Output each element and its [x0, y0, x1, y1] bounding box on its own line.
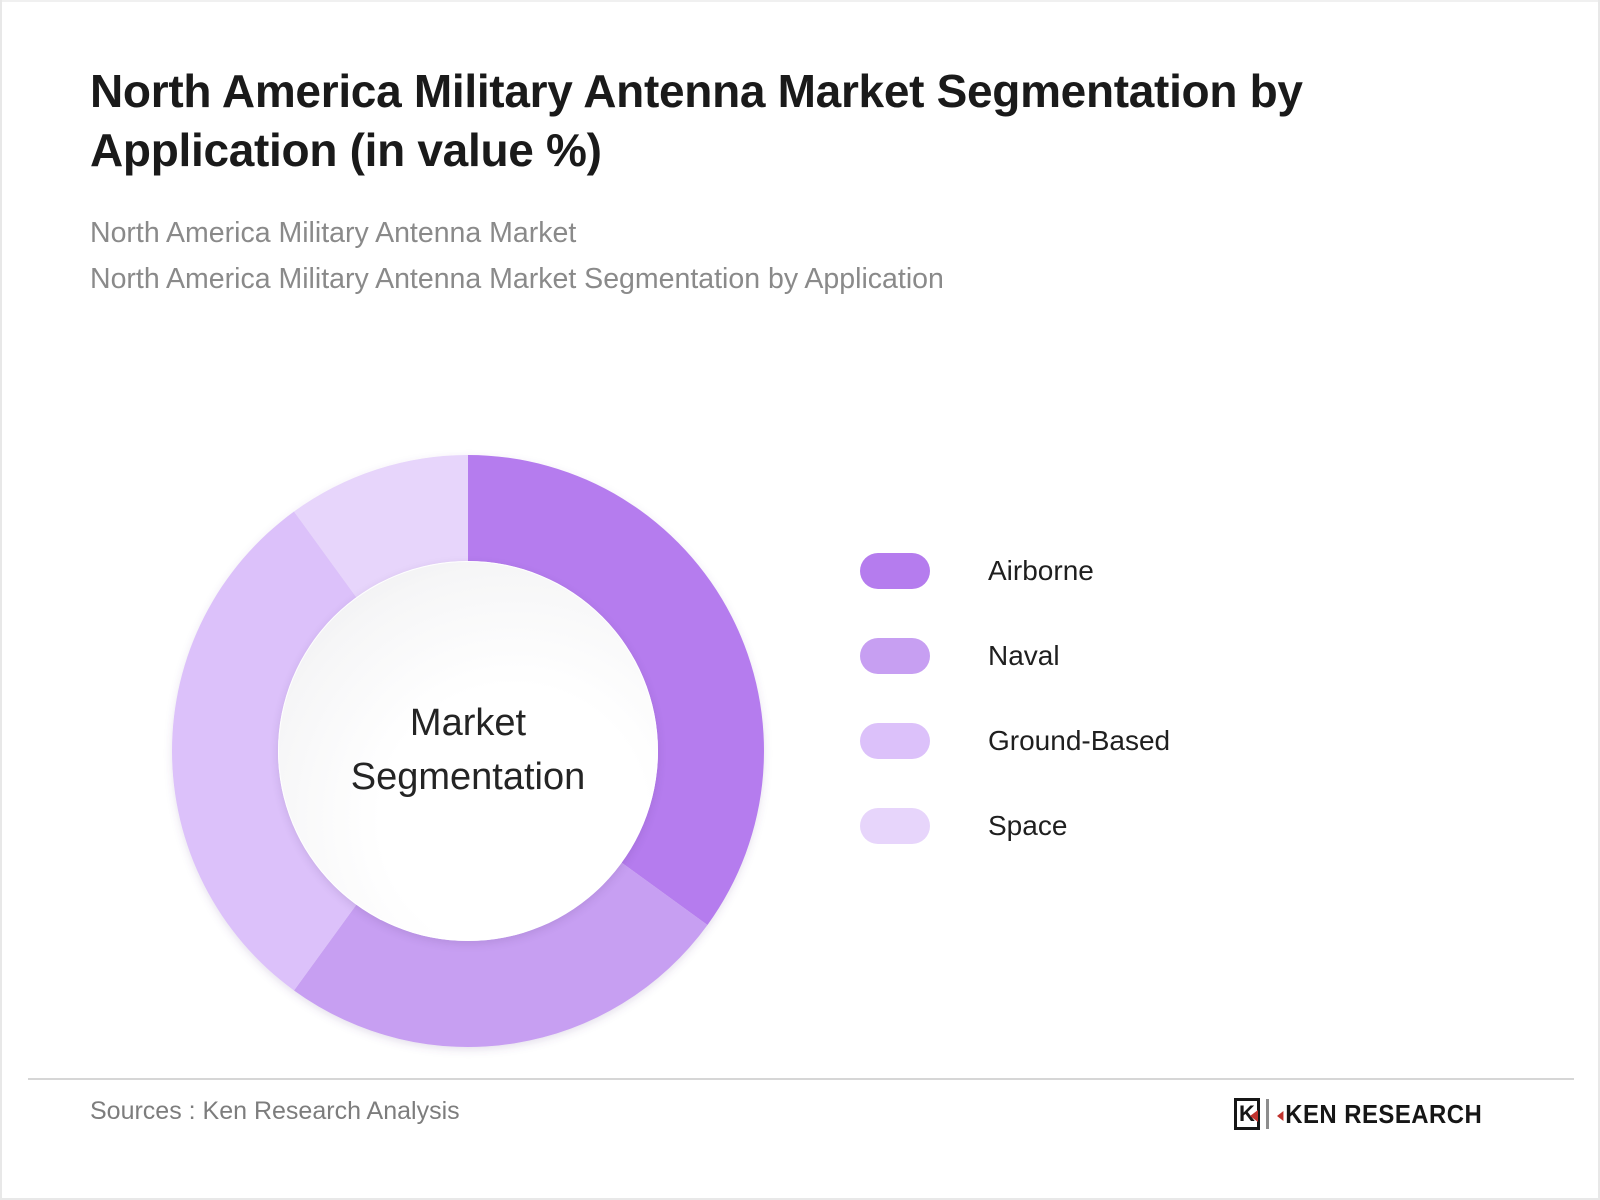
logo-wordmark-text: KEN RESEARCH: [1285, 1099, 1482, 1129]
donut-chart: Market Segmentation: [172, 455, 764, 1047]
legend-swatch-icon: [860, 808, 930, 844]
footer-source-text: Sources : Ken Research Analysis: [90, 1097, 460, 1126]
legend-swatch-icon: [860, 553, 930, 589]
legend-swatch-icon: [860, 723, 930, 759]
legend-item-naval[interactable]: Naval: [860, 613, 1400, 698]
frame-border-left: [0, 0, 2, 1200]
subtitle-line-2: North America Military Antenna Market Se…: [90, 256, 1490, 302]
logo-red-triangle-icon: [1250, 1110, 1258, 1122]
chart-legend: AirborneNavalGround-BasedSpace: [860, 528, 1400, 868]
slide-canvas: North America Military Antenna Market Se…: [0, 0, 1600, 1200]
legend-item-label: Airborne: [988, 555, 1094, 587]
logo-k-mark-icon: K: [1234, 1098, 1260, 1130]
page-title: North America Military Antenna Market Se…: [90, 62, 1480, 180]
legend-swatch-icon: [860, 638, 930, 674]
frame-border-top: [0, 0, 1600, 2]
legend-item-airborne[interactable]: Airborne: [860, 528, 1400, 613]
logo-wordmark: KEN RESEARCH: [1277, 1099, 1482, 1130]
subtitle-line-1: North America Military Antenna Market: [90, 210, 1490, 256]
legend-item-label: Ground-Based: [988, 725, 1170, 757]
legend-item-space[interactable]: Space: [860, 783, 1400, 868]
donut-center-label: Market Segmentation: [278, 561, 658, 941]
donut-center-line-2: Segmentation: [351, 751, 586, 805]
ken-research-logo: K KEN RESEARCH: [1234, 1096, 1500, 1132]
donut-center-line-1: Market: [410, 697, 526, 751]
logo-inline-triangle-icon: [1277, 1111, 1283, 1121]
chart-area: Market Segmentation AirborneNavalGround-…: [90, 400, 1490, 1060]
footer-divider: [28, 1078, 1574, 1080]
legend-item-ground-based[interactable]: Ground-Based: [860, 698, 1400, 783]
header: North America Military Antenna Market Se…: [90, 62, 1490, 302]
logo-divider: [1266, 1099, 1269, 1129]
legend-item-label: Space: [988, 810, 1067, 842]
legend-item-label: Naval: [988, 640, 1060, 672]
subtitle-block: North America Military Antenna Market No…: [90, 210, 1490, 302]
